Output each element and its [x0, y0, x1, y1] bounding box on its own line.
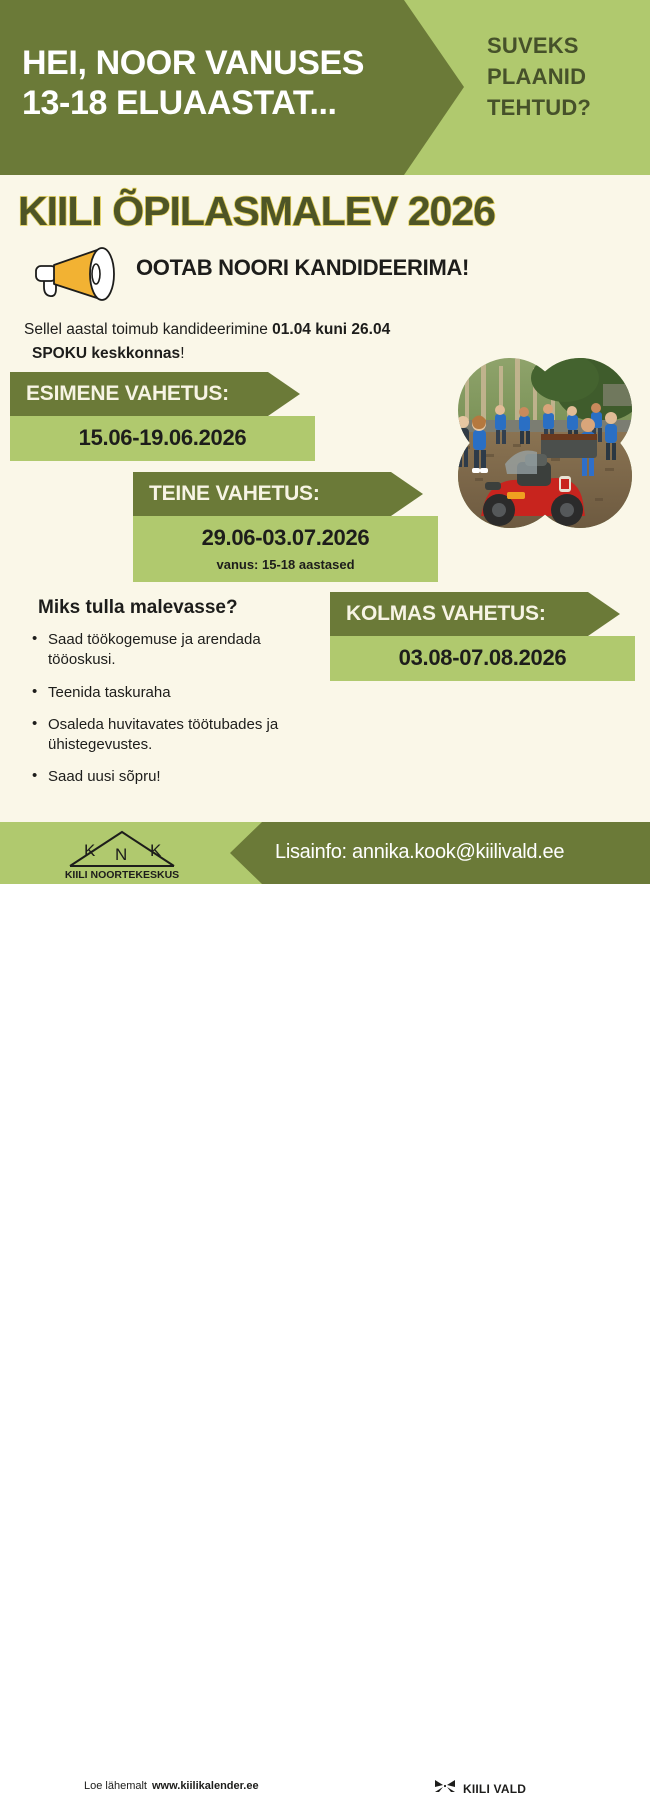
header-headline-line1: HEI, NOOR VANUSES	[22, 44, 364, 82]
kiili-vald-logo: KIILI VALD	[434, 1778, 526, 1799]
header-side-line1: SUVEKS	[487, 30, 637, 61]
svg-text:K: K	[150, 841, 162, 860]
header-side-line2: PLAANID	[487, 61, 637, 92]
list-item: Saad uusi sõpru!	[30, 767, 330, 787]
kiili-noortekeskus-logo: K N K KIILI NOORTEKESKUS	[58, 826, 186, 881]
header-headline: HEI, NOOR VANUSES 13-18 ELUAASTAT...	[22, 43, 422, 123]
shift-3-date: 03.08-07.08.2026	[330, 645, 635, 671]
list-item: Saad töökogemuse ja arendada tööoskusi.	[30, 630, 330, 671]
megaphone-icon	[24, 243, 128, 305]
shift-1-body: 15.06-19.06.2026	[10, 416, 315, 461]
shift-2-body: 29.06-03.07.2026 vanus: 15-18 aastased	[133, 516, 438, 582]
list-item: Osaleda huvitavates töötubades ja ühiste…	[30, 715, 330, 756]
bottom-strip: Loe lähemaltwww.kiilikalender.ee KIILI V…	[0, 884, 650, 919]
intro-line1-plain: Sellel aastal toimub kandideerimine	[24, 321, 272, 338]
read-more-url[interactable]: www.kiilikalender.ee	[152, 1780, 259, 1792]
intro-paragraph: Sellel aastal toimub kandideerimine 01.0…	[24, 318, 494, 366]
why-join-list: Saad töökogemuse ja arendada tööoskusi. …	[30, 630, 330, 788]
shift-block-1: ESIMENE VAHETUS: 15.06-19.06.2026	[10, 372, 315, 461]
page-title: KIILI ÕPILASMALEV 2026	[18, 188, 638, 235]
shift-1-label: ESIMENE VAHETUS:	[10, 382, 229, 406]
shift-2-label: TEINE VAHETUS:	[133, 482, 320, 506]
shift-1-header: ESIMENE VAHETUS:	[10, 372, 300, 416]
why-join-section: Miks tulla malevasse? Saad töökogemuse j…	[30, 597, 330, 800]
shift-2-date: 29.06-03.07.2026	[133, 525, 438, 551]
why-join-title: Miks tulla malevasse?	[30, 597, 330, 619]
list-item: Teenida taskuraha	[30, 683, 330, 703]
svg-text:KIILI NOORTEKESKUS: KIILI NOORTEKESKUS	[65, 869, 179, 881]
kiili-vald-name: KIILI VALD	[463, 1782, 526, 1796]
camp-photo	[455, 358, 635, 528]
header-side-question: SUVEKS PLAANID TEHTUD?	[487, 30, 637, 124]
contact-email-text[interactable]: Lisainfo: annika.kook@kiilivald.ee	[275, 841, 564, 864]
megaphone-row: OOTAB NOORI KANDIDEERIMA!	[24, 243, 624, 305]
read-more-line: Loe lähemaltwww.kiilikalender.ee	[84, 1780, 259, 1792]
shift-3-body: 03.08-07.08.2026	[330, 636, 635, 681]
shift-2-header: TEINE VAHETUS:	[133, 472, 423, 516]
shift-2-age-note: vanus: 15-18 aastased	[133, 557, 438, 572]
shift-3-header: KOLMAS VAHETUS:	[330, 592, 620, 636]
svg-text:K: K	[84, 841, 96, 860]
intro-line2-bold: SPOKU keskkonnas	[32, 345, 180, 362]
header-banner: HEI, NOOR VANUSES 13-18 ELUAASTAT... SUV…	[0, 0, 650, 175]
shift-block-2: TEINE VAHETUS: 29.06-03.07.2026 vanus: 1…	[133, 472, 438, 582]
intro-line2: SPOKU keskkonnas!	[24, 342, 494, 366]
shift-1-date: 15.06-19.06.2026	[10, 425, 315, 451]
megaphone-text: OOTAB NOORI KANDIDEERIMA!	[136, 255, 469, 281]
intro-line2-tail: !	[180, 345, 184, 362]
intro-line1-dates: 01.04 kuni 26.04	[272, 321, 390, 338]
header-headline-line2: 13-18 ELUAASTAT...	[22, 83, 422, 123]
header-side-line3: TEHTUD?	[487, 92, 637, 123]
read-more-label: Loe lähemalt	[84, 1780, 147, 1792]
kiili-vald-mark-icon	[434, 1778, 456, 1799]
shift-block-3: KOLMAS VAHETUS: 03.08-07.08.2026	[330, 592, 635, 681]
svg-text:N: N	[115, 845, 127, 864]
shift-3-label: KOLMAS VAHETUS:	[330, 602, 546, 626]
